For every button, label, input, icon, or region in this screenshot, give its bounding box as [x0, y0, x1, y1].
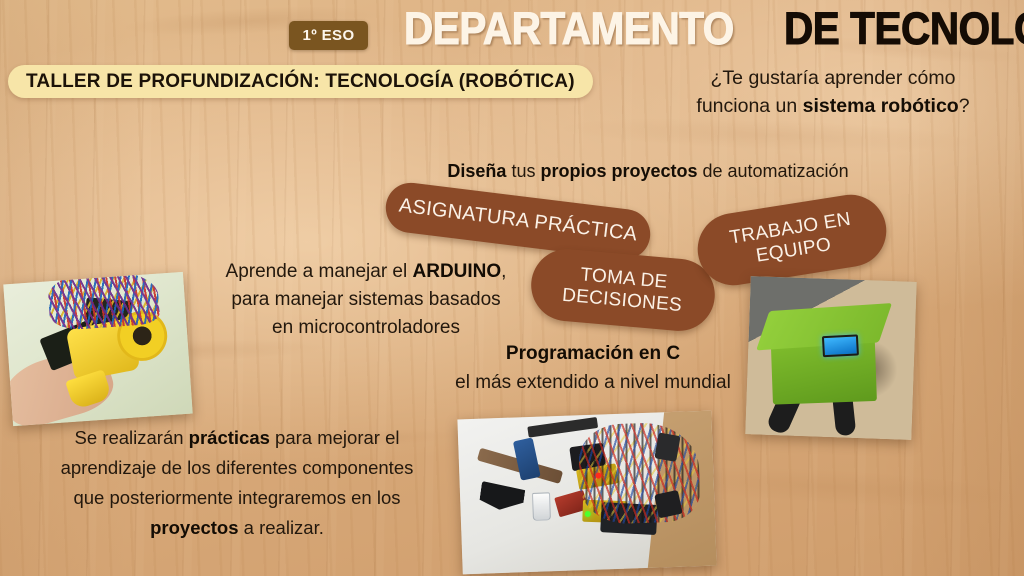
page-title-departamento: DEPARTAMENTO [404, 6, 734, 51]
design-projects-plain-2: de automatización [697, 161, 848, 181]
course-badge: 1º ESO [289, 21, 368, 50]
arduino-text-block: Aprende a manejar el ARDUINO, para manej… [180, 258, 552, 342]
design-projects-plain-1: tus [506, 161, 540, 181]
intro-question-line-2-pre: funciona un [696, 95, 802, 117]
proyectos-keyword: proyectos [150, 517, 238, 538]
practicas-keyword: prácticas [189, 427, 270, 448]
plastic-cup-shape [532, 492, 551, 521]
wire-bundle-shape [47, 272, 161, 331]
practicas-line-1-pre: Se realizarán [75, 427, 189, 448]
practicas-text-block: Se realizarán prácticas para mejorar el … [18, 423, 456, 543]
photo-robotic-arm [457, 411, 716, 575]
poster-canvas: 1º ESO DEPARTAMENTO DE TECNOLOGÍA TALLER… [0, 0, 1024, 576]
arduino-line-1-pre: Aprende a manejar el [226, 261, 413, 282]
arduino-line-1-post: , [501, 261, 506, 282]
practicas-line-1-post: para mejorar el [270, 427, 400, 448]
metal-bar-shape [527, 417, 598, 438]
workshop-banner-label: TALLER DE PROFUNDIZACIÓN: TECNOLOGÍA (RO… [26, 71, 575, 93]
pill-toma-de-decisiones: TOMA DE DECISIONES [528, 246, 718, 334]
pill-trabajo-en-equipo: TRABAJO EN EQUIPO [693, 190, 892, 291]
intro-question-highlight: sistema robótico [803, 95, 959, 117]
servo-motor-shape [513, 437, 541, 480]
gripper-shape [479, 481, 526, 513]
design-projects-bold-1: Diseña [447, 161, 506, 181]
practicas-line-1: Se realizarán prácticas para mejorar el [18, 423, 456, 453]
pill-asignatura-practica-label: ASIGNATURA PRÁCTICA [398, 195, 639, 248]
practicas-line-2: aprendizaje de los diferentes componente… [18, 453, 456, 483]
programming-text-block: Programación en C el más extendido a niv… [418, 340, 768, 397]
arduino-line-1: Aprende a manejar el ARDUINO, [180, 258, 552, 286]
practicas-line-3: que posteriormente integraremos en los [18, 483, 456, 513]
pill-toma-de-decisiones-label: TOMA DE DECISIONES [561, 262, 685, 317]
photo-yellow-robot [3, 272, 192, 426]
programming-line-2: el más extendido a nivel mundial [418, 369, 768, 398]
servo-motor-shape [654, 490, 682, 518]
intro-question-line-1: ¿Te gustaría aprender cómo [648, 64, 1018, 92]
practicas-line-4: proyectos a realizar. [18, 513, 456, 543]
photo-green-robot [745, 276, 916, 440]
programming-line-1: Programación en C [418, 340, 768, 369]
intro-question-line-2: funciona un sistema robótico? [648, 92, 1018, 120]
arduino-line-3: en microcontroladores [180, 314, 552, 342]
pill-trabajo-en-equipo-label: TRABAJO EN EQUIPO [728, 208, 856, 271]
arduino-keyword: ARDUINO [413, 261, 502, 282]
intro-question-line-2-post: ? [959, 95, 970, 117]
course-badge-label: 1º ESO [302, 27, 354, 44]
page-title-tecnologia: DE TECNOLOGÍA [784, 6, 1024, 51]
page-title: DEPARTAMENTO DE TECNOLOGÍA [404, 2, 1024, 54]
lcd-screen-shape [822, 334, 859, 357]
design-projects-bold-2: propios proyectos [540, 161, 697, 181]
intro-question: ¿Te gustaría aprender cómo funciona un s… [648, 64, 1018, 121]
arduino-line-2: para manejar sistemas basados [180, 286, 552, 314]
practicas-line-4-post: a realizar. [239, 517, 324, 538]
workshop-banner: TALLER DE PROFUNDIZACIÓN: TECNOLOGÍA (RO… [8, 65, 593, 98]
design-projects-line: Diseña tus propios proyectos de automati… [398, 160, 898, 183]
pill-asignatura-practica: ASIGNATURA PRÁCTICA [383, 180, 653, 262]
servo-motor-shape [654, 432, 680, 461]
